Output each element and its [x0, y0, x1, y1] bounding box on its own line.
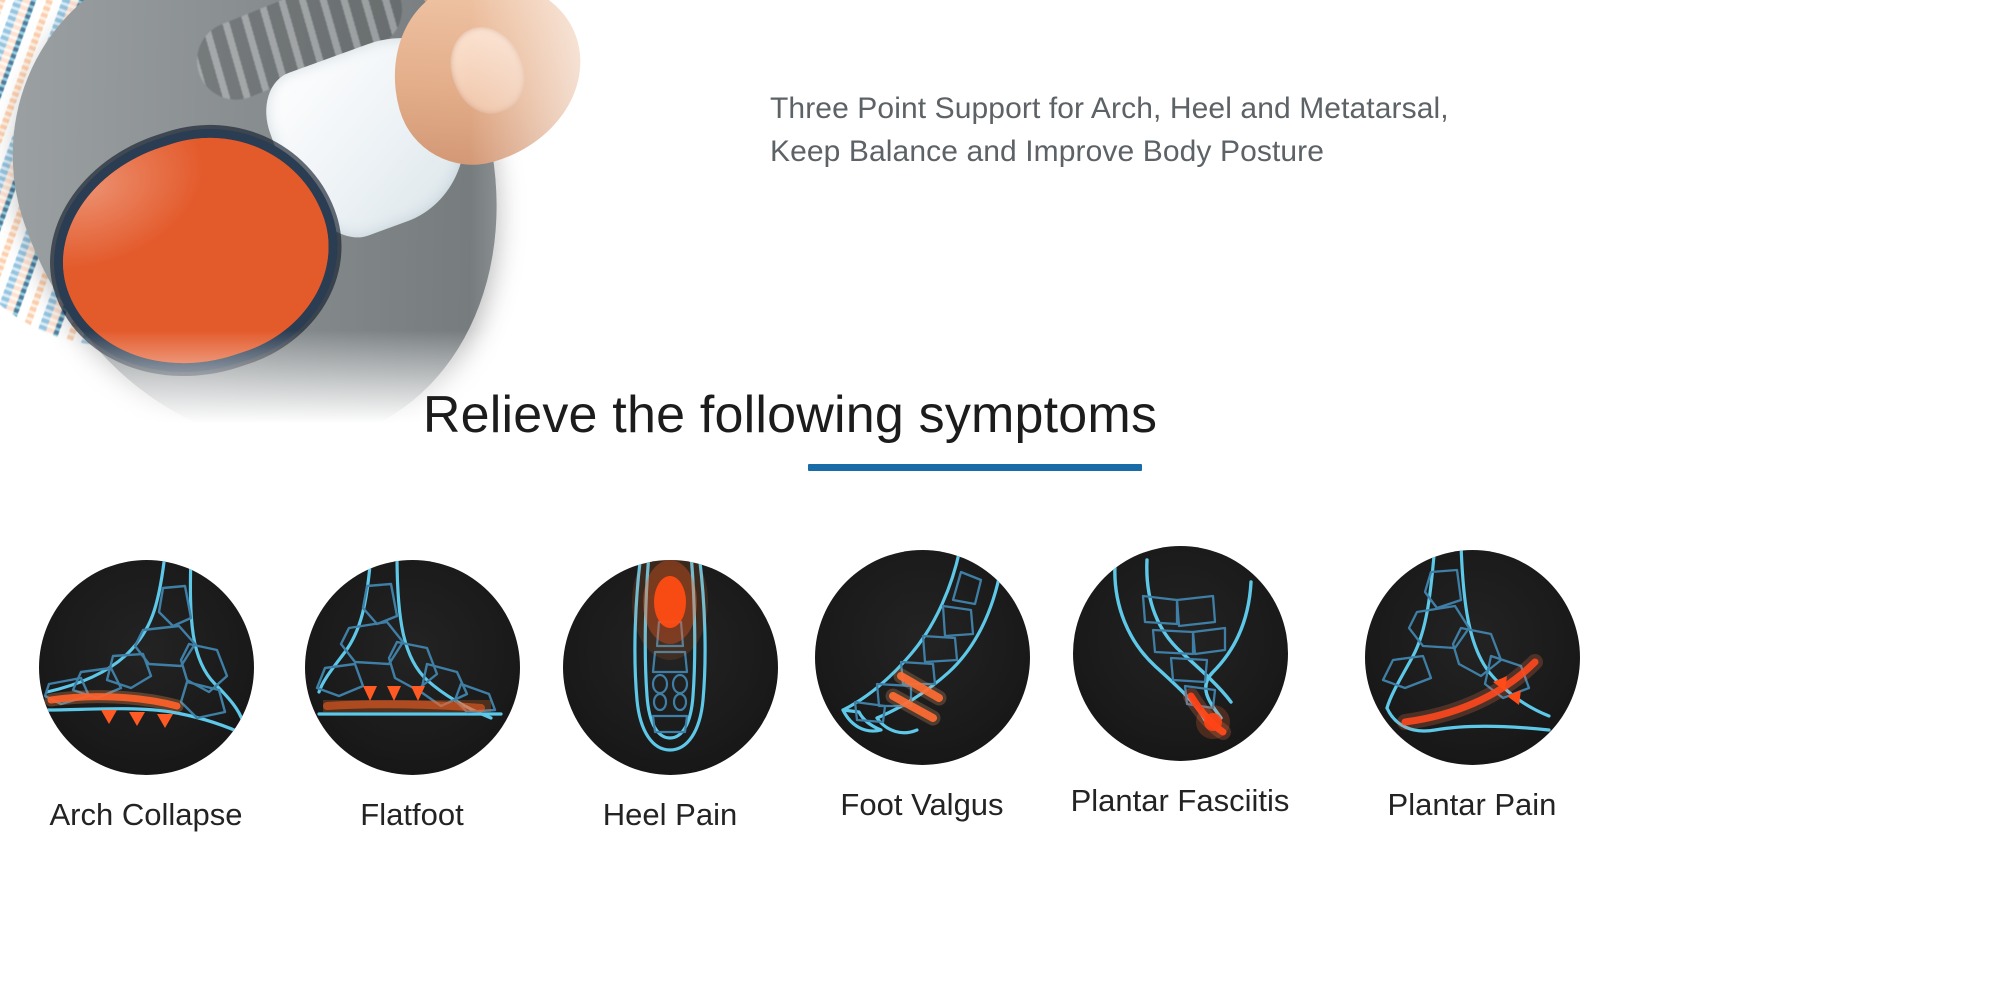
symptom-item-arch-collapse[interactable]: Arch Collapse	[26, 560, 266, 833]
symptom-label: Arch Collapse	[26, 797, 266, 833]
tagline-line-2: Keep Balance and Improve Body Posture	[770, 131, 1790, 174]
symptom-list: Arch Collapse	[0, 560, 2000, 960]
title-underline	[808, 464, 1142, 471]
product-infographic-page: Three Point Support for Arch, Heel and M…	[0, 0, 2000, 1000]
foot-arch-collapse-icon	[39, 560, 254, 775]
tagline: Three Point Support for Arch, Heel and M…	[770, 88, 1790, 173]
symptom-item-plantar-pain[interactable]: Plantar Pain	[1352, 550, 1592, 823]
foot-plantar-fasciitis-icon	[1073, 546, 1288, 761]
foot-valgus-icon	[815, 550, 1030, 765]
product-photo	[0, 0, 760, 440]
symptom-label: Plantar Pain	[1352, 787, 1592, 823]
foot-heel-pain-icon	[563, 560, 778, 775]
symptom-label: Heel Pain	[550, 797, 790, 833]
symptom-label: Plantar Fasciitis	[1060, 783, 1300, 819]
pressure-arrows	[363, 686, 425, 701]
symptom-label: Flatfoot	[292, 797, 532, 833]
tagline-line-1: Three Point Support for Arch, Heel and M…	[770, 88, 1790, 131]
foot-plantar-pain-icon	[1365, 550, 1580, 765]
symptom-label: Foot Valgus	[802, 787, 1042, 823]
pressure-arrows	[101, 710, 173, 728]
symptom-item-plantar-fasciitis[interactable]: Plantar Fasciitis	[1060, 546, 1300, 819]
symptom-item-flatfoot[interactable]: Flatfoot	[292, 560, 532, 833]
section-title: Relieve the following symptoms	[0, 385, 1580, 445]
foot-flatfoot-icon	[305, 560, 520, 775]
symptom-item-heel-pain[interactable]: Heel Pain	[550, 560, 790, 833]
symptom-item-foot-valgus[interactable]: Foot Valgus	[802, 550, 1042, 823]
